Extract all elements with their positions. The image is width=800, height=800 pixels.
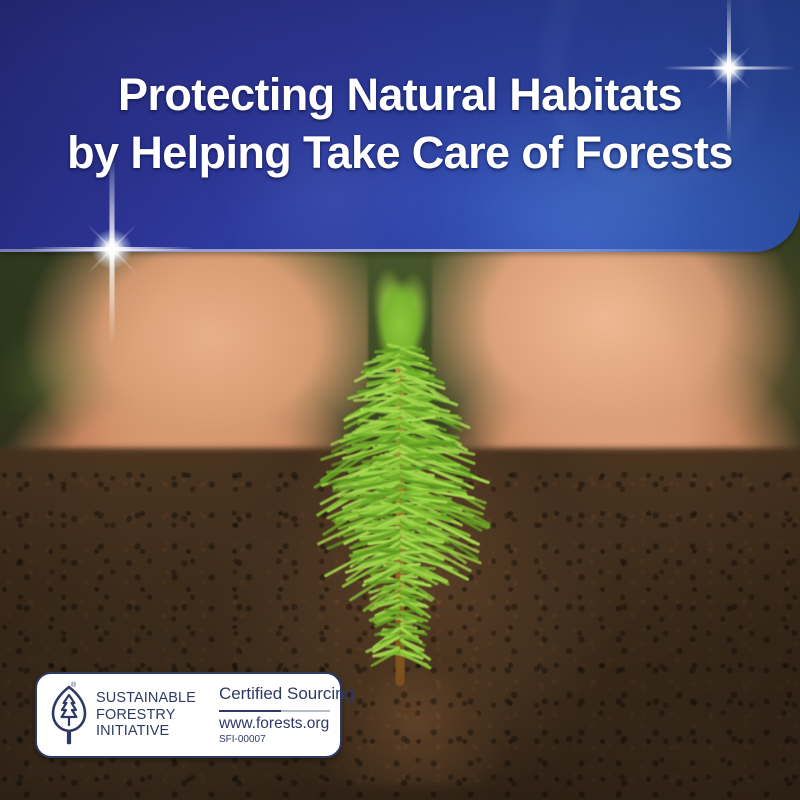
sfi-website-link[interactable]: www.forests.org: [219, 715, 330, 733]
headline-line-2: by Helping Take Care of Forests: [0, 124, 800, 182]
badge-divider: [207, 687, 208, 743]
sfi-wordmark-line-3: INITIATIVE: [96, 723, 196, 740]
headline-banner: Protecting Natural Habitats by Helping T…: [0, 0, 800, 252]
headline-line-1: Protecting Natural Habitats: [0, 66, 800, 124]
conifer-seedling: [285, 255, 515, 695]
sfi-leaf-tree-glyph: [49, 684, 89, 746]
certification-label: Certified Sourcing: [219, 683, 330, 704]
sfi-license-code: SFI-00007: [219, 733, 330, 747]
sfi-leaf-tree-icon: ®: [49, 684, 89, 746]
sfi-wordmark-line-1: SUSTAINABLE: [96, 690, 196, 707]
sfi-wordmark: SUSTAINABLE FORESTRY INITIATIVE: [96, 690, 196, 740]
sfi-logo-group: ® SUSTAINABLE FORESTRY INITIATIVE: [49, 684, 196, 746]
sfi-certification-badge[interactable]: ® SUSTAINABLE FORESTRY INITIATIVE Certif…: [35, 672, 342, 758]
sfi-certification-details: Certified Sourcing www.forests.org SFI-0…: [219, 683, 330, 747]
sfi-wordmark-line-2: FORESTRY: [96, 707, 196, 724]
poster-root: Protecting Natural Habitats by Helping T…: [0, 0, 800, 800]
registered-trademark-icon: ®: [71, 682, 76, 689]
badge-horizontal-rule: [219, 710, 330, 712]
page-title: Protecting Natural Habitats by Helping T…: [0, 66, 800, 182]
banner-bottom-edge: [0, 249, 800, 252]
